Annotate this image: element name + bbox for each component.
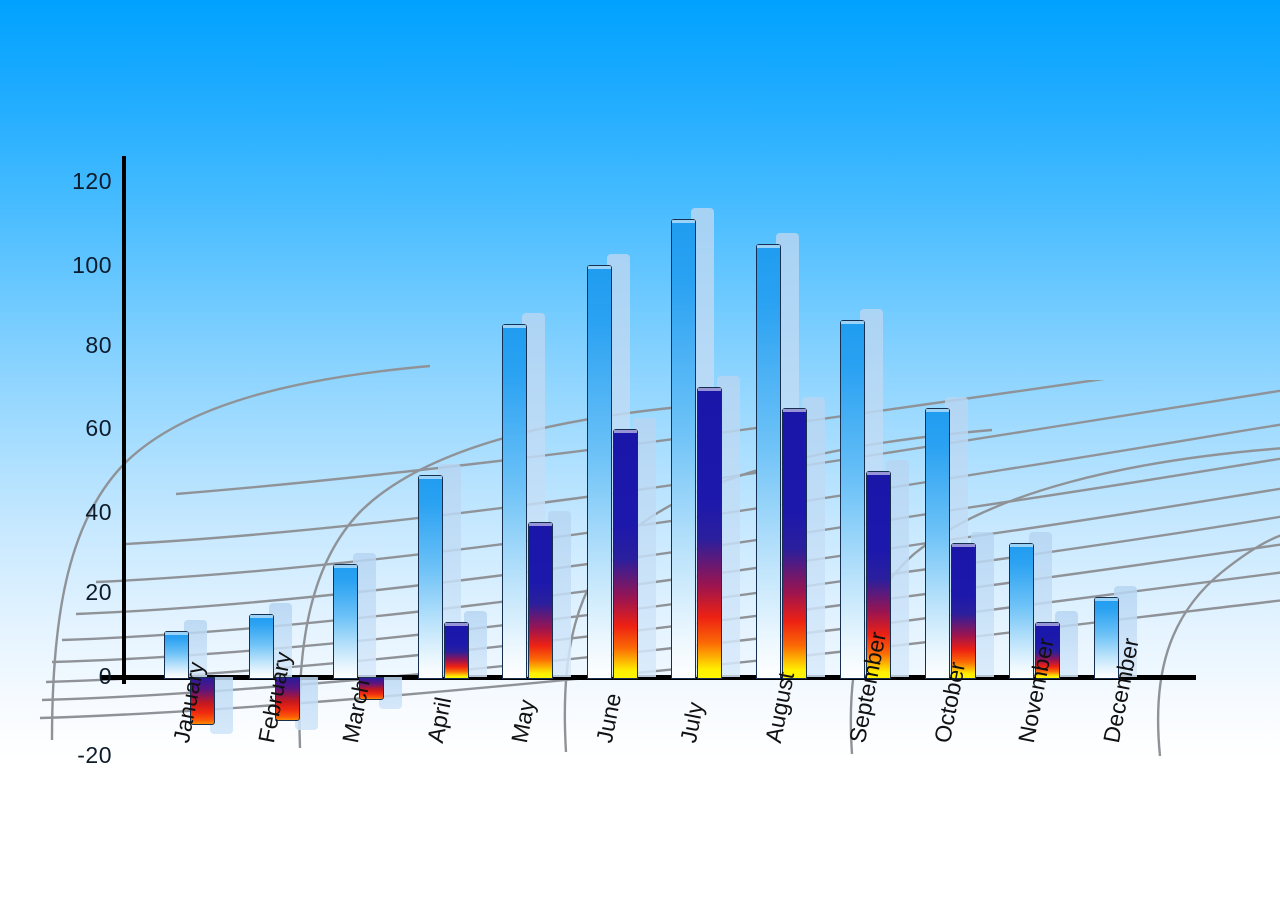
bar-cap-highlight [419, 476, 442, 479]
bar-may-flame[interactable] [528, 522, 553, 679]
x-label-may: May [506, 697, 541, 745]
chart-canvas: 120 100 80 60 40 20 0 -20 JanuaryFebruar… [0, 0, 1280, 905]
x-label-august: August [760, 670, 800, 745]
bar-cap-highlight [334, 565, 357, 568]
y-tick-label: 100 [72, 252, 112, 279]
x-label-june: June [591, 691, 627, 745]
bar-cap-highlight [165, 632, 188, 635]
bar-july-flame[interactable] [697, 387, 722, 679]
bar-cap-highlight [588, 266, 611, 269]
bar-cap-highlight [867, 472, 890, 475]
bar-october-flame[interactable] [951, 543, 976, 679]
bar-cap-highlight [783, 409, 806, 412]
y-axis-line [122, 156, 126, 684]
bar-cap-highlight [952, 544, 975, 547]
y-tick-label: 60 [85, 415, 112, 442]
bar-cap-highlight [250, 615, 273, 618]
bar-cap-highlight [841, 321, 864, 324]
x-label-july: July [675, 700, 709, 745]
bar-cap-highlight [529, 523, 552, 526]
bar-april-blue[interactable] [418, 475, 443, 679]
bar-august-flame[interactable] [782, 408, 807, 679]
y-tick-label: 40 [85, 499, 112, 526]
x-label-march: March [337, 677, 376, 745]
y-tick-label: 20 [85, 579, 112, 606]
bar-july-blue[interactable] [671, 219, 696, 679]
bar-cap-highlight [503, 325, 526, 328]
bar-cap-highlight [614, 430, 637, 433]
bar-cap-highlight [1095, 598, 1118, 601]
bar-cap-highlight [445, 623, 468, 626]
bar-cap-highlight [926, 409, 949, 412]
x-label-april: April [422, 695, 457, 745]
bar-cap-highlight [698, 388, 721, 391]
bar-september-blue[interactable] [840, 320, 865, 679]
bar-april-flame[interactable] [444, 622, 469, 679]
bar-august-blue[interactable] [756, 244, 781, 679]
bar-cap-highlight [1036, 623, 1059, 626]
bar-cap-highlight [1010, 544, 1033, 547]
y-tick-label: 120 [72, 168, 112, 195]
bar-cap-highlight [672, 220, 695, 223]
y-tick-label: 0 [99, 663, 112, 690]
y-tick-label: -20 [77, 742, 112, 769]
bar-october-blue[interactable] [925, 408, 950, 679]
y-tick-label: 80 [85, 332, 112, 359]
plot-area: 120 100 80 60 40 20 0 -20 JanuaryFebruar… [0, 0, 1280, 905]
bar-june-flame[interactable] [613, 429, 638, 679]
bar-march-blue[interactable] [333, 564, 358, 679]
bar-cap-highlight [757, 245, 780, 248]
bar-june-blue[interactable] [587, 265, 612, 679]
bar-may-blue[interactable] [502, 324, 527, 679]
